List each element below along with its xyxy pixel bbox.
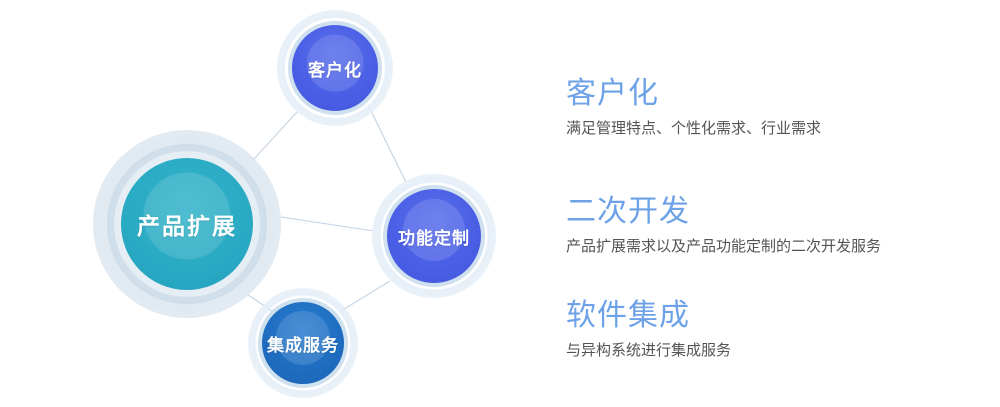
node-label-product-expansion: 产品扩展 [137,207,237,241]
info-desc-secondary-development: 产品扩展需求以及产品功能定制的二次开发服务 [566,235,1000,259]
info-block-secondary-development: 二次开发 产品扩展需求以及产品功能定制的二次开发服务 [566,192,1000,259]
info-desc-customization: 满足管理特点、个性化需求、行业需求 [566,117,1000,141]
info-title-customization: 客户化 [566,74,1000,114]
node-label-function-customization: 功能定制 [398,224,470,249]
info-block-customization: 客户化 满足管理特点、个性化需求、行业需求 [566,74,1000,141]
diagram-node-product-expansion[interactable]: 产品扩展 [93,130,281,318]
infographic-canvas: 产品扩展 客户化 功能定制 集成服务 客户化 满足管理特点、个性化需求、行 [0,0,1000,407]
diagram-node-integration-service[interactable]: 集成服务 [248,288,358,398]
info-title-secondary-development: 二次开发 [566,192,1000,232]
node-label-customization: 客户化 [308,56,362,81]
info-block-software-integration: 软件集成 与异构系统进行集成服务 [566,296,1000,363]
diagram-node-function-customization[interactable]: 功能定制 [372,174,496,298]
info-title-software-integration: 软件集成 [566,296,1000,336]
diagram-node-customization[interactable]: 客户化 [277,10,393,126]
hub-and-spoke-diagram: 产品扩展 客户化 功能定制 集成服务 [0,0,560,407]
node-label-integration-service: 集成服务 [267,331,339,356]
info-desc-software-integration: 与异构系统进行集成服务 [566,339,1000,363]
info-panel: 客户化 满足管理特点、个性化需求、行业需求 二次开发 产品扩展需求以及产品功能定… [566,0,1000,407]
